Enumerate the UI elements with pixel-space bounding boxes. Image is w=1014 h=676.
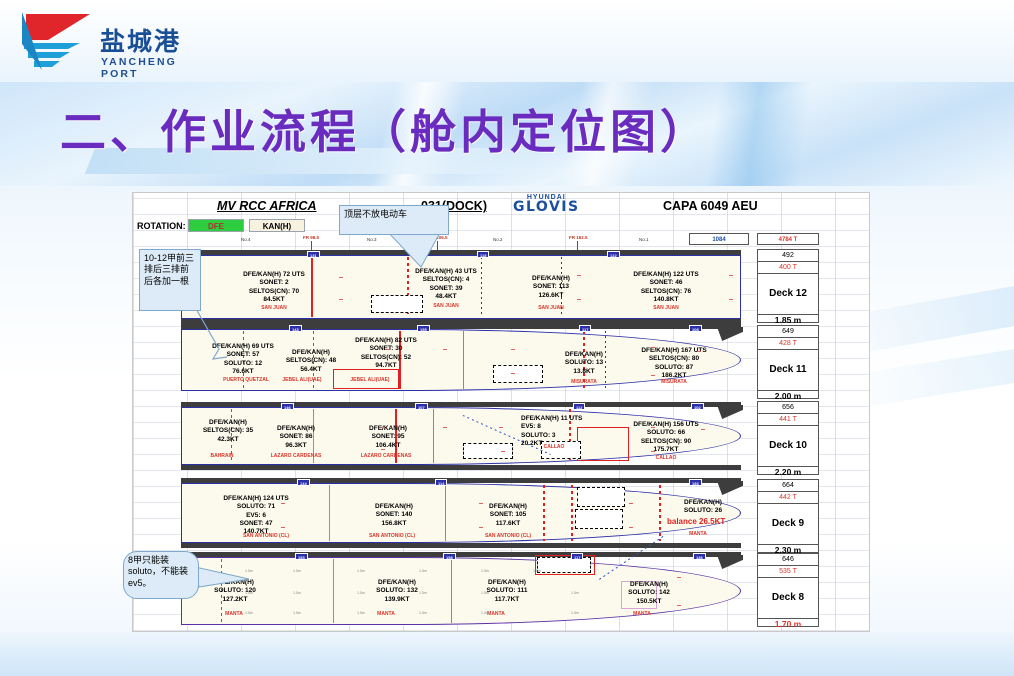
deck-9-name: Deck 9 (758, 504, 818, 544)
callout-deck-10-12-note: 10-12甲前三排后三排前后各加一根 (139, 249, 201, 311)
deck-10-info-column: 656 441 T Deck 10 2.20 m (757, 401, 819, 475)
deck-9-port-1: SAN ANTONIO (CL) (221, 533, 311, 539)
deck-11-port-4: MISURATA (551, 379, 617, 385)
stowage-plan-sheet: MV RCC AFRICA 031(DOCK) HYUNDAI GLOVIS C… (132, 192, 870, 632)
deck-11-weight: 428 T (758, 338, 818, 350)
callout-deck-8-note: 8甲只能装soluto，不能装ev5。 (123, 551, 199, 599)
deck-8-block-3: DFE/KAN(H)SOLUTO: 111 117.7KT (447, 579, 567, 604)
deck-8-port-1: MANTA (201, 611, 267, 617)
deck-8-weight: 535 T (758, 566, 818, 578)
fr-tick-3 (577, 241, 578, 250)
deck-8-height: 1.70 m (758, 618, 818, 630)
deck-11-port-3: JEBEL ALI(UAE) (325, 377, 415, 383)
deck-8-name: Deck 8 (758, 578, 818, 618)
fr-tick-1 (311, 241, 312, 250)
deck-10-units: 656 (758, 402, 818, 414)
deck-12-port-3: SAN JUAN (516, 305, 586, 311)
deck-12-block-1: DFE/KAN(H) 72 UTSSONET: 2 SELTOS(CN): 70… (209, 271, 339, 304)
deck-9-block-4: DFE/KAN(H)SOLUTO: 26 (663, 499, 743, 516)
deck-11-units: 649 (758, 326, 818, 338)
deck-9-block-2: DFE/KAN(H)SONET: 140 156.8KT (339, 503, 449, 528)
deck-12-name: Deck 12 (758, 274, 818, 314)
deck-8-tag-3: 117 (571, 553, 583, 560)
operator-main-text: GLOVIS (513, 199, 580, 215)
deck-row-11: 143 155 117 108 DFE/KAN(H) 69 UTSSONET: … (181, 329, 741, 391)
deck-8-port-4: MANTA (609, 611, 675, 617)
deck-9-divider-5 (659, 485, 661, 541)
deck-10-tag-2: 107 (415, 403, 428, 410)
deck-11-tag-2: 155 (417, 325, 430, 332)
deck-12-units: 492 (758, 250, 818, 262)
deck-9-port-2: SAN ANTONIO (CL) (347, 533, 437, 539)
deck-10-weight: 441 T (758, 414, 818, 426)
deck-9-dash-box-1 (577, 487, 625, 507)
deck-9-port-3: SAN ANTONIO (CL) (463, 533, 553, 539)
deck-8-info-column: 646 535 T Deck 8 1.70 m (757, 553, 819, 627)
deck-9-port-4: MANTA (673, 531, 723, 537)
deck-9-tag-3: 153 (689, 479, 702, 486)
deck-9-divider-1 (329, 485, 330, 541)
total-units-box: 1084 (689, 233, 749, 245)
deck-8-tag-4: 136 (693, 553, 706, 560)
deck-12-port-4: SAN JUAN (631, 305, 701, 311)
frame-label-no1: No.1 (639, 237, 649, 242)
deck-8-block-4: DFE/KAN(H)SOLUTO: 142 150.5KT (589, 581, 709, 606)
deck-8-bow-wedge (717, 555, 743, 569)
frame-label-no3: No.3 (367, 237, 377, 242)
deck-row-9: 144 114 153 DFE/KAN(H) 124 UTSSOLUTO: 71… (181, 483, 741, 543)
deck-10-dash-box-1 (463, 443, 513, 459)
logo-text-en: YANCHENG PORT (101, 56, 198, 80)
balance-note: balance 26.5KT (667, 517, 725, 526)
deck-9-top-bar (181, 478, 741, 483)
deck-10-port-5: CALLAO (631, 455, 701, 461)
deck-9-dash-box-2 (575, 509, 623, 529)
deck-11-port-5: MISURATA (639, 379, 709, 385)
vessel-name: MV RCC AFRICA (217, 199, 317, 213)
deck-11-name: Deck 11 (758, 350, 818, 390)
deck-row-12: 131 118 122 DFE/KAN(H) 72 UTSSONET: 2 SE… (181, 255, 741, 319)
deck-row-10: 146 107 112 102 DFE/KAN(H)SELTOS(CN): 35… (181, 407, 741, 465)
deck-10-block-3: DFE/KAN(H)SONET: 95 106.4KT (331, 425, 445, 450)
deck-row-8: 153 158 117 136 DFE/KAN(H)SOLUTO: 120 12… (181, 557, 741, 625)
deck-8-units: 646 (758, 554, 818, 566)
capacity-label: CAPA 6049 AEU (663, 199, 758, 213)
deck-10-block-5: DFE/KAN(H) 156 UTSSOLUTO: 66 SELTOS(CN):… (601, 421, 731, 454)
deck-9-tag-2: 114 (435, 479, 447, 486)
deck-9-divider-4 (571, 485, 573, 541)
deck-11-block-3: DFE/KAN(H) 82 UTSSONET: 30 SELTOS(CN): 5… (321, 337, 451, 370)
logo-mark-icon (18, 10, 98, 76)
rotation-chip-kan: KAN(H) (249, 219, 305, 232)
deck-10-tag-3: 112 (573, 403, 585, 410)
deck-10-tag-4: 102 (691, 403, 704, 410)
total-weight-box: 4784 T (757, 233, 819, 245)
deck-12-tag-3: 122 (607, 251, 620, 258)
deck-8-top-bar (181, 552, 741, 557)
deck-9-units: 664 (758, 480, 818, 492)
deck-10-tag-1: 146 (281, 403, 294, 410)
callout-1-tail (193, 305, 229, 361)
logo-text-cn: 盐城港 (100, 22, 181, 58)
deck-12-port-2: SAN JUAN (411, 303, 481, 309)
deck-8-tag-1: 153 (295, 553, 308, 560)
deck-12-info-column: 492 400 T Deck 12 1.85 m (757, 249, 819, 323)
callout-top-deck-note: 顶层不放电动车 (339, 205, 449, 235)
deck-12-tag-2: 118 (477, 251, 489, 258)
rotation-label: ROTATION: (137, 221, 186, 231)
operator-logo-glovis: HYUNDAI GLOVIS (513, 194, 580, 215)
deck-12-weight: 400 T (758, 262, 818, 274)
frame-label-no2: No.2 (493, 237, 503, 242)
callout-2-tail (385, 229, 459, 269)
deck-8-tag-2: 158 (443, 553, 456, 560)
deck-10-height: 2.20 m (758, 466, 818, 478)
deck-10-top-bar (181, 402, 741, 407)
deck-11-divider-4 (463, 331, 464, 389)
page-title: 二、作业流程（舱内定位图） (60, 96, 710, 162)
fr-label-1: FR 98.5 (303, 235, 319, 240)
deck-12-port-1: SAN JUAN (239, 305, 309, 311)
deck-11-block-5: DFE/KAN(H) 167 UTSSELTOS(CN): 80 SOLUTO:… (609, 347, 739, 380)
frame-label-no4: No.4 (241, 237, 251, 242)
deck-11-tag-1: 143 (289, 325, 302, 332)
deck-12-block-4: DFE/KAN(H) 122 UTSSONET: 46 SELTOS(CN): … (601, 271, 731, 304)
deck-11-bow-wedge (717, 327, 743, 341)
deck-10-bow-wedge (717, 405, 743, 419)
deck-8-port-3: MANTA (463, 611, 529, 617)
deck-8-block-2: DFE/KAN(H)SOLUTO: 132 139.9KT (337, 579, 457, 604)
deck-10-name: Deck 10 (758, 426, 818, 466)
deck-11-tag-3: 117 (579, 325, 591, 332)
deck-9-weight: 442 T (758, 492, 818, 504)
deck-9-info-column: 664 442 T Deck 9 2.30 m (757, 479, 819, 553)
deck-9-block-3: DFE/KAN(H)SONET: 105 117.6KT (453, 503, 563, 528)
deck-8-divider-2 (333, 559, 334, 623)
callout-3-tail (193, 563, 253, 597)
deck-10-port-4: CALLAO (529, 444, 579, 450)
deck-12-top-bar (181, 250, 741, 255)
deck-9-bottom-bar (181, 543, 741, 548)
deck-12-tag-1: 131 (307, 251, 320, 258)
fr-label-3: FR 162.5 (569, 235, 588, 240)
deck-9-block-1: DFE/KAN(H) 124 UTSSOLUTO: 71 EV5: 6SONET… (191, 495, 321, 537)
deck-10-port-3: LAZARO CARDENAS (333, 453, 439, 459)
deck-10-bottom-bar (181, 465, 741, 470)
deck-11-info-column: 649 428 T Deck 11 2.00 m (757, 325, 819, 399)
deck-11-tag-4: 108 (689, 325, 702, 332)
deck-11-top-bar (181, 324, 741, 329)
yancheng-port-logo: 盐城港 YANCHENG PORT (18, 10, 198, 76)
deck-9-bow-wedge (717, 481, 743, 495)
rotation-chip-dfe: DFE (188, 219, 244, 232)
decorative-swoosh-bottom (0, 630, 1014, 676)
slide-canvas: 盐城港 YANCHENG PORT 二、作业流程（舱内定位图） MV RCC A… (0, 0, 1014, 676)
deck-12-block-3: DFE/KAN(H)SONET: 113 126.6KT (491, 275, 611, 300)
deck-9-tag-1: 144 (297, 479, 310, 486)
